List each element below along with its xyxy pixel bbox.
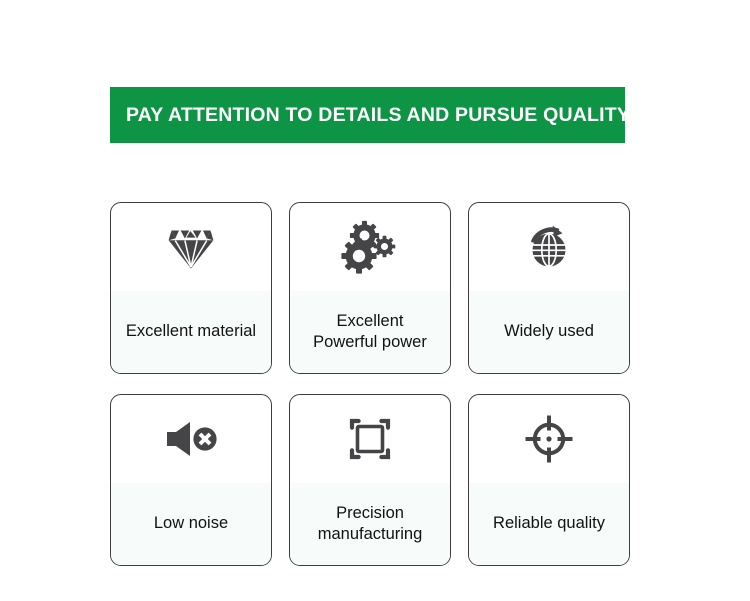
card-label: Reliable quality: [493, 513, 605, 534]
gears-icon: [341, 220, 399, 274]
feature-card-powerful-power[interactable]: Excellent Powerful power: [289, 202, 451, 374]
card-text-area: Precision manufacturing: [290, 483, 450, 565]
feature-highlights-page: PAY ATTENTION TO DETAILS AND PURSUE QUAL…: [0, 0, 750, 601]
section-banner: PAY ATTENTION TO DETAILS AND PURSUE QUAL…: [110, 87, 625, 143]
feature-card-excellent-material[interactable]: Excellent material: [110, 202, 272, 374]
card-icon-area: [290, 203, 450, 291]
card-text-area: Reliable quality: [469, 483, 629, 565]
card-icon-area: [290, 395, 450, 483]
card-label: Excellent Powerful power: [313, 311, 427, 353]
card-icon-area: [469, 395, 629, 483]
speaker-mute-icon: [163, 419, 219, 459]
card-label: Excellent material: [126, 321, 256, 342]
banner-title: PAY ATTENTION TO DETAILS AND PURSUE QUAL…: [126, 104, 630, 127]
diamond-icon: [164, 224, 218, 270]
crop-frame-icon: [345, 414, 395, 464]
card-label: Precision manufacturing: [318, 503, 423, 545]
feature-card-precision-manufacturing[interactable]: Precision manufacturing: [289, 394, 451, 566]
card-label: Low noise: [154, 513, 228, 534]
feature-card-grid: Excellent material: [110, 202, 629, 566]
card-icon-area: [469, 203, 629, 291]
globe-arrow-icon: [523, 222, 575, 272]
card-text-area: Low noise: [111, 483, 271, 565]
card-text-area: Excellent material: [111, 291, 271, 373]
feature-card-widely-used[interactable]: Widely used: [468, 202, 630, 374]
feature-card-low-noise[interactable]: Low noise: [110, 394, 272, 566]
crosshair-target-icon: [523, 413, 575, 465]
card-text-area: Widely used: [469, 291, 629, 373]
card-icon-area: [111, 395, 271, 483]
feature-card-reliable-quality[interactable]: Reliable quality: [468, 394, 630, 566]
card-label: Widely used: [504, 321, 594, 342]
card-icon-area: [111, 203, 271, 291]
card-text-area: Excellent Powerful power: [290, 291, 450, 373]
